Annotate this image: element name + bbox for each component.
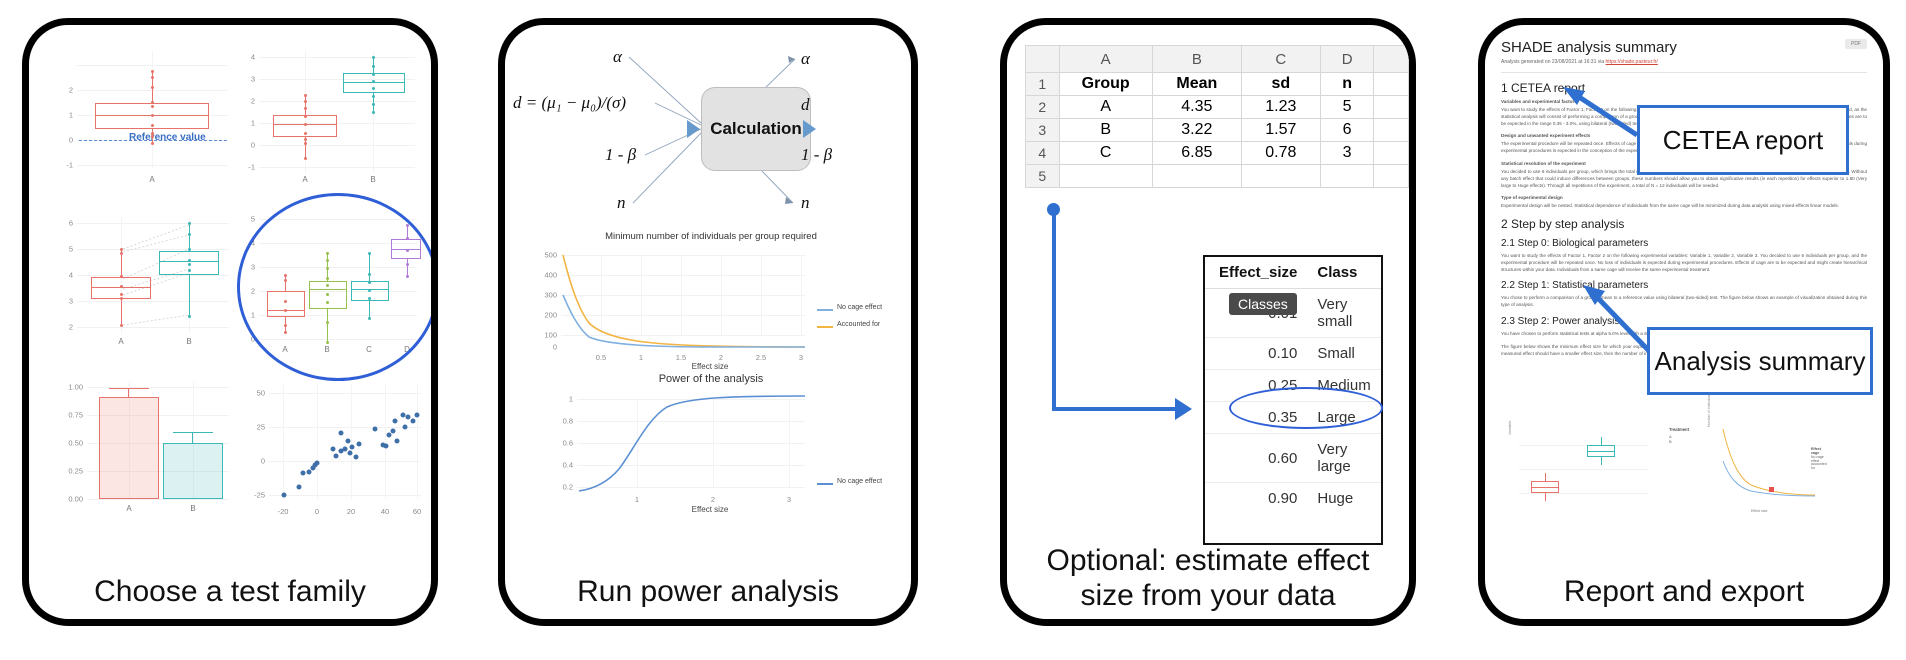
y-tick: 5 [235, 215, 255, 224]
output-alpha: α [801, 49, 810, 69]
x-tick: 2.5 [748, 353, 774, 362]
mini-box-figure: Variable [1505, 425, 1665, 521]
x-tick: 1.5 [668, 353, 694, 362]
document-subtitle: Analysis generated on 23/08/2021 at 16:3… [1501, 59, 1867, 65]
cell-d4[interactable]: 3 [1320, 142, 1374, 165]
subtitle-prefix: Analysis generated on 23/08/2021 at 16:3… [1501, 59, 1606, 65]
output-power: 1 - β [801, 145, 832, 165]
chart-two-sample-box: 4 3 2 1 0 -1 [225, 37, 423, 195]
effect-class-value: Huge [1307, 483, 1381, 515]
connector-arrow-icon [1175, 398, 1192, 420]
cell-a4[interactable]: C [1059, 142, 1152, 165]
legend-label-accounted: Accounted for [837, 321, 880, 328]
x-axis-label: Effect size [635, 362, 785, 371]
highlight-circle [237, 193, 438, 381]
spreadsheet-column-header-row: A B C D [1026, 46, 1409, 73]
mini-curve-figure: Number of individuals per group Effect s… [1707, 423, 1827, 523]
cell-c3[interactable]: 1.57 [1241, 119, 1320, 142]
mini-curve-x-label: Effect size [1751, 509, 1768, 513]
cell-d2[interactable]: 5 [1320, 96, 1374, 119]
cell-d3[interactable]: 6 [1320, 119, 1374, 142]
panel2-body: α d = (μ₁ − μ₀)/(σ) 1 - β n Calculation … [505, 25, 911, 523]
cell-c4[interactable]: 0.78 [1241, 142, 1320, 165]
table-row[interactable]: 0.60 Very large [1205, 434, 1381, 483]
cell-a5[interactable] [1059, 165, 1152, 188]
y-tick: 4 [233, 53, 255, 62]
subsection-text: You chose to perform a comparison of a g… [1501, 294, 1867, 308]
x-tick: B [190, 504, 195, 513]
y-tick: 1 [233, 119, 255, 128]
x-tick: 3 [778, 495, 800, 504]
output-arrow-icon [803, 120, 816, 138]
x-tick: A [302, 175, 307, 184]
mini-y-label: Variable [1507, 421, 1512, 435]
effect-class-value: Very large [1307, 434, 1381, 483]
y-tick: 1 [53, 111, 73, 120]
x-tick: 2 [702, 495, 724, 504]
output-n: n [801, 193, 810, 213]
row-header[interactable]: 5 [1026, 165, 1060, 188]
output-d: d [801, 95, 810, 115]
connector-horizontal [1052, 407, 1178, 411]
y-tick: 0.75 [53, 411, 83, 420]
block-title: Type of experimental design [1501, 195, 1867, 200]
y-tick: 2 [53, 86, 73, 95]
row-header[interactable]: 2 [1026, 96, 1060, 119]
input-alpha: α [613, 47, 622, 67]
power-diagram: α d = (μ₁ − μ₀)/(σ) 1 - β n Calculation … [505, 25, 911, 233]
panel3-caption: Optional: estimate effect size from your… [1007, 544, 1409, 613]
chart-proportion-bar: 1.00 0.75 0.50 0.25 0.00 A B [47, 371, 237, 523]
figure-root: 2 1 0 -1 Reference value [0, 0, 1906, 660]
column-header-a[interactable]: A [1059, 46, 1152, 73]
cell-c1[interactable]: sd [1241, 73, 1320, 96]
cell-b4[interactable]: 6.85 [1152, 142, 1241, 165]
legend-label-no-cage: No cage effect [837, 478, 882, 485]
y-tick: 2 [233, 97, 255, 106]
panel-report-and-export: PDF SHADE analysis summary Analysis gene… [1478, 18, 1890, 626]
x-tick: 2 [708, 353, 734, 362]
block-text: Experimental design will be nested. Stat… [1501, 202, 1867, 209]
cell-a2[interactable]: A [1059, 96, 1152, 119]
x-tick: A [149, 175, 154, 184]
subsection-text: You want to study the effects of Factor … [1501, 252, 1867, 273]
cell-e2[interactable] [1374, 96, 1409, 119]
cell-c2[interactable]: 1.23 [1241, 96, 1320, 119]
cell-b3[interactable]: 3.22 [1152, 119, 1241, 142]
cell-b2[interactable]: 4.35 [1152, 96, 1241, 119]
effect-size-value: 0.60 [1205, 434, 1307, 483]
cell-d1[interactable]: n [1320, 73, 1374, 96]
effect-class-value: Small [1307, 338, 1381, 370]
sheet-corner[interactable] [1026, 46, 1060, 73]
chart-one-sample-box: 2 1 0 -1 Reference value [47, 43, 232, 193]
mini-curve-legend-item-2: accounted for [1811, 462, 1827, 470]
chart-correlation-scatter: 50 25 0 -25 -20 0 20 40 60 [237, 371, 427, 523]
shade-link[interactable]: https://shade.pasteur.fr/ [1606, 59, 1658, 65]
table-row[interactable]: 0.90 Huge [1205, 483, 1381, 515]
divider [1501, 72, 1867, 73]
table-row: 4 C 6.85 0.78 3 [1026, 142, 1409, 165]
column-header-b[interactable]: B [1152, 46, 1241, 73]
cell-e5[interactable] [1374, 165, 1409, 188]
bar-a [99, 397, 159, 499]
cell-d5[interactable] [1320, 165, 1374, 188]
row-header[interactable]: 3 [1026, 119, 1060, 142]
legend-swatch-no-cage [817, 483, 833, 485]
cell-a1[interactable]: Group [1059, 73, 1152, 96]
chart-paired-box: 6 5 4 3 2 [47, 207, 237, 357]
input-power: 1 - β [605, 145, 636, 165]
y-tick: 3 [233, 75, 255, 84]
cell-a3[interactable]: B [1059, 119, 1152, 142]
export-badge[interactable]: PDF [1845, 39, 1867, 49]
column-header-c[interactable]: C [1241, 46, 1320, 73]
x-axis-label: Effect size [635, 505, 785, 514]
header-effect-size: Effect_size [1205, 257, 1307, 289]
legend-swatch-no-cage [817, 309, 833, 311]
header-class: Class [1307, 257, 1381, 289]
y-tick: 0 [233, 141, 255, 150]
table-row[interactable]: 0.10 Small [1205, 338, 1381, 370]
y-tick: -1 [53, 161, 73, 170]
panel4-caption: Report and export [1485, 575, 1883, 610]
x-tick: A [126, 504, 131, 513]
cell-e1[interactable] [1374, 73, 1409, 96]
y-tick: 0.00 [53, 495, 83, 504]
table-row: 3 B 3.22 1.57 6 [1026, 119, 1409, 142]
x-tick: B [186, 337, 191, 346]
chart-min-individuals: Minimum number of individuals per group … [515, 231, 907, 375]
panel1-body: 2 1 0 -1 Reference value [29, 25, 431, 523]
table-row: 5 [1026, 165, 1409, 188]
x-tick: 1 [628, 353, 654, 362]
cell-b5[interactable] [1152, 165, 1241, 188]
y-tick: -1 [233, 163, 255, 172]
subsection-heading-2-1: 2.1 Step 0: Biological parameters [1501, 238, 1867, 249]
x-tick: 0.5 [588, 353, 614, 362]
section-heading-2: 2 Step by step analysis [1501, 217, 1867, 231]
subsection-heading-2-3: 2.3 Step 2: Power analysis [1501, 316, 1867, 327]
y-tick: 0.50 [53, 439, 83, 448]
x-tick: A [118, 337, 123, 346]
x-tick: 3 [788, 353, 814, 362]
panel1-caption: Choose a test family [29, 575, 431, 610]
input-n: n [617, 193, 626, 213]
panel-choose-test-family: 2 1 0 -1 Reference value [22, 18, 438, 626]
cell-e3[interactable] [1374, 119, 1409, 142]
panel2-caption: Run power analysis [505, 575, 911, 610]
panel-run-power-analysis: α d = (μ₁ − μ₀)/(σ) 1 - β n Calculation … [498, 18, 918, 626]
reference-value-label: Reference value [129, 132, 206, 143]
input-arrow-icon [687, 120, 700, 138]
mini-curve-legend-title: Effect cage [1811, 447, 1827, 455]
highlight-ellipse-large [1229, 387, 1383, 429]
callout-analysis-summary: Analysis summary [1647, 327, 1873, 395]
input-effect-size-formula: d = (μ₁ − μ₀)/(σ) [513, 93, 626, 113]
table-row: 2 A 4.35 1.23 5 [1026, 96, 1409, 119]
panel4-body: PDF SHADE analysis summary Analysis gene… [1485, 25, 1883, 523]
row-header[interactable]: 1 [1026, 73, 1060, 96]
cell-b1[interactable]: Mean [1152, 73, 1241, 96]
effect-size-value: 0.10 [1205, 338, 1307, 370]
column-header-d[interactable]: D [1320, 46, 1374, 73]
cell-e4[interactable] [1374, 142, 1409, 165]
classes-tooltip: Classes [1229, 293, 1297, 315]
y-tick: 0 [53, 136, 73, 145]
legend-swatch-accounted [817, 326, 833, 328]
column-header-e[interactable] [1374, 46, 1409, 73]
x-tick: B [370, 175, 375, 184]
effect-table-header-row: Effect_size Class [1205, 257, 1381, 289]
x-tick: 1 [626, 495, 648, 504]
document-title: SHADE analysis summary [1501, 39, 1867, 56]
table-row: 1 Group Mean sd n [1026, 73, 1409, 96]
effect-size-value: 0.90 [1205, 483, 1307, 515]
block-title: Variables and experimental factors [1501, 99, 1867, 104]
callout-cetea-report: CETEA report [1637, 105, 1849, 175]
legend-label-no-cage: No cage effect [837, 304, 882, 311]
panel3-body: A B C D 1 Group Mean sd n 2 A 4. [1007, 25, 1409, 523]
cell-c5[interactable] [1241, 165, 1320, 188]
calculation-box: Calculation [701, 87, 811, 171]
chart-power: Power of the analysis 1 0.8 0.6 0.4 0.2 … [515, 373, 907, 525]
row-header[interactable]: 4 [1026, 142, 1060, 165]
effect-class-value: Very small [1307, 289, 1381, 338]
y-tick: 0.25 [53, 467, 83, 476]
subsection-heading-2-2: 2.2 Step 1: Statistical parameters [1501, 280, 1867, 291]
data-spreadsheet[interactable]: A B C D 1 Group Mean sd n 2 A 4. [1025, 45, 1409, 188]
panel-estimate-effect-size: A B C D 1 Group Mean sd n 2 A 4. [1000, 18, 1416, 626]
connector-vertical [1052, 211, 1056, 411]
scatter-points [237, 371, 427, 523]
bar-b [163, 443, 223, 499]
y-tick: 1.00 [53, 383, 83, 392]
section-heading-1: 1 CETEA report [1501, 81, 1867, 95]
